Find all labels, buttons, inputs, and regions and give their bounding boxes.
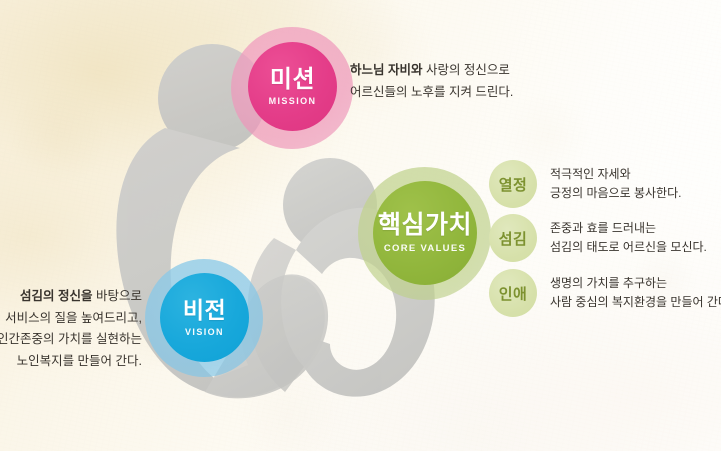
- value-badge-benevolence-line2: 사람 중심의 복지환경을 만들어 간다.: [550, 293, 721, 312]
- value-badge-benevolence-label: 인애: [499, 283, 528, 304]
- mission-english-label: MISSION: [269, 96, 317, 106]
- value-badge-passion-line2: 긍정의 마음으로 봉사한다.: [550, 184, 681, 203]
- core-values-core-circle: 핵심가치 CORE VALUES: [373, 181, 477, 285]
- vision-core-circle: 비전 VISION: [160, 273, 249, 362]
- vision-description-line2: 서비스의 질을 높여드리고,: [0, 308, 142, 330]
- value-badge-passion-line1: 적극적인 자세와: [550, 165, 681, 184]
- vision-description: 섬김의 정신을 바탕으로 서비스의 질을 높여드리고, 인간존중의 가치를 실현…: [0, 286, 142, 372]
- value-badge-benevolence-text: 생명의 가치를 추구하는 사람 중심의 복지환경을 만들어 간다.: [550, 274, 721, 313]
- value-badge-service-label: 섬김: [499, 228, 528, 249]
- vision-description-line3: 인간존중의 가치를 실현하는: [0, 329, 142, 351]
- value-badge-passion-text: 적극적인 자세와 긍정의 마음으로 봉사한다.: [550, 165, 681, 204]
- value-badge-passion-label: 열정: [499, 174, 528, 195]
- mission-description-lead: 하느님 자비와: [350, 63, 422, 77]
- mission-description-line1: 하느님 자비와 사랑의 정신으로: [350, 60, 513, 82]
- value-badge-service[interactable]: 섬김 존중과 효를 드러내는 섬김의 태도로 어르신을 모신다.: [489, 214, 707, 262]
- infographic-canvas: 미션 MISSION 하느님 자비와 사랑의 정신으로 어르신들의 노후를 지켜…: [0, 0, 721, 451]
- value-badge-benevolence-line1: 생명의 가치를 추구하는: [550, 274, 721, 293]
- vision-english-label: VISION: [185, 327, 224, 337]
- vision-description-rest: 바탕으로: [93, 289, 142, 303]
- value-badge-passion-chip: 열정: [489, 160, 537, 208]
- vision-description-line4: 노인복지를 만들어 간다.: [0, 351, 142, 373]
- vision-description-lead: 섬김의 정신을: [20, 289, 92, 303]
- core-values-korean-label: 핵심가치: [378, 212, 472, 238]
- value-badge-benevolence-chip: 인애: [489, 269, 537, 317]
- vision-circle[interactable]: 비전 VISION: [145, 259, 263, 377]
- vision-description-line1: 섬김의 정신을 바탕으로: [0, 286, 142, 308]
- value-badge-service-line1: 존중과 효를 드러내는: [550, 219, 707, 238]
- core-values-circle[interactable]: 핵심가치 CORE VALUES: [358, 167, 491, 300]
- mission-core-circle: 미션 MISSION: [248, 42, 337, 131]
- mission-korean-label: 미션: [270, 67, 315, 92]
- value-badge-service-text: 존중과 효를 드러내는 섬김의 태도로 어르신을 모신다.: [550, 219, 707, 258]
- mission-description-rest: 사랑의 정신으로: [422, 63, 509, 77]
- core-values-english-label: CORE VALUES: [384, 243, 466, 254]
- mission-description-line2: 어르신들의 노후를 지켜 드린다.: [350, 82, 513, 104]
- mission-description: 하느님 자비와 사랑의 정신으로 어르신들의 노후를 지켜 드린다.: [350, 60, 513, 103]
- vision-korean-label: 비전: [183, 298, 226, 322]
- mission-circle[interactable]: 미션 MISSION: [231, 27, 353, 149]
- value-badge-service-chip: 섬김: [489, 214, 537, 262]
- value-badge-passion[interactable]: 열정 적극적인 자세와 긍정의 마음으로 봉사한다.: [489, 160, 681, 208]
- value-badge-service-line2: 섬김의 태도로 어르신을 모신다.: [550, 238, 707, 257]
- value-badge-benevolence[interactable]: 인애 생명의 가치를 추구하는 사람 중심의 복지환경을 만들어 간다.: [489, 269, 721, 317]
